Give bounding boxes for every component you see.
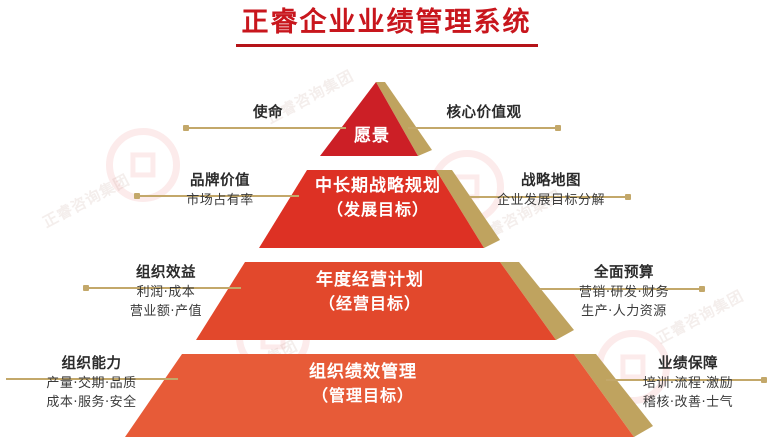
callout-mission: 使命	[208, 104, 328, 123]
callout-core-values: 核心价值观	[414, 104, 554, 123]
callout-brand-value-line-1: 市场占有率	[150, 191, 290, 210]
callout-organizational-benefit-line-1: 利润·成本	[96, 283, 236, 302]
callout-organizational-capability-line-2: 成本·服务·安全	[14, 393, 169, 412]
callout-strategy-map: 战略地图 企业发展目标分解	[476, 172, 626, 210]
callout-organizational-capability: 组织能力 产量·交期·品质 成本·服务·安全	[14, 355, 169, 412]
leader-line-right-values	[408, 127, 556, 129]
callout-performance-guarantee-head: 业绩保障	[612, 355, 764, 374]
callout-comprehensive-budget-line-1: 营销·研发·财务	[546, 283, 702, 302]
callout-strategy-map-line-1: 企业发展目标分解	[476, 191, 626, 210]
callout-mission-head: 使命	[208, 104, 328, 123]
tier-performance-face	[125, 354, 634, 437]
callout-organizational-benefit: 组织效益 利润·成本 营业额·产值	[96, 264, 236, 321]
callout-performance-guarantee: 业绩保障 培训·流程·激励 稽核·改善·士气	[612, 355, 764, 412]
callout-organizational-capability-line-1: 产量·交期·品质	[14, 374, 169, 393]
leader-line-left-mission	[186, 127, 346, 129]
callout-comprehensive-budget-line-2: 生产·人力资源	[546, 302, 702, 321]
leader-dot-right-values	[555, 125, 561, 131]
callout-core-values-head: 核心价值观	[414, 104, 554, 123]
callout-organizational-benefit-line-2: 营业额·产值	[96, 302, 236, 321]
callout-performance-guarantee-line-2: 稽核·改善·士气	[612, 393, 764, 412]
callout-organizational-benefit-head: 组织效益	[96, 264, 236, 283]
callout-comprehensive-budget: 全面预算 营销·研发·财务 生产·人力资源	[546, 264, 702, 321]
callout-brand-value: 品牌价值 市场占有率	[150, 172, 290, 210]
callout-performance-guarantee-line-1: 培训·流程·激励	[612, 374, 764, 393]
callout-organizational-capability-head: 组织能力	[14, 355, 169, 374]
callout-comprehensive-budget-head: 全面预算	[546, 264, 702, 283]
callout-brand-value-head: 品牌价值	[150, 172, 290, 191]
diagram-canvas: 正睿咨询集团 正睿咨询集团 正睿咨询集团 正睿咨询集团 正睿咨询集团 正睿企业业…	[0, 0, 773, 446]
tier-annual-face	[196, 262, 556, 340]
callout-strategy-map-head: 战略地图	[476, 172, 626, 191]
